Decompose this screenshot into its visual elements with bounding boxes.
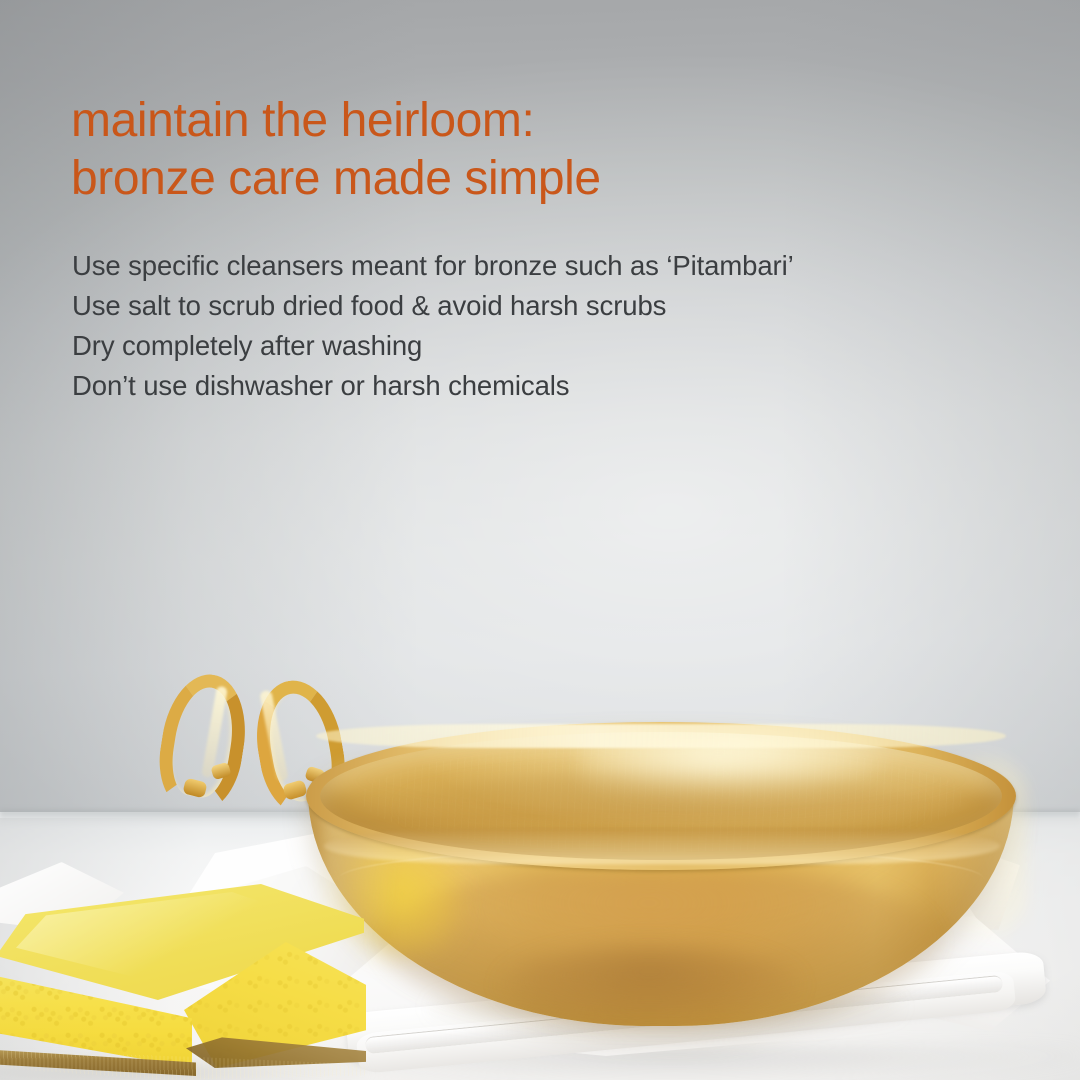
bowl-bottom-shading xyxy=(500,946,800,1026)
page-title: maintain the heirloom: bronze care made … xyxy=(71,92,971,208)
care-tip-4: Don’t use dishwasher or harsh chemicals xyxy=(72,366,1002,406)
page-title-line-2: bronze care made simple xyxy=(71,150,971,208)
yellow-sponge xyxy=(0,884,368,1080)
care-tip-2: Use salt to scrub dried food & avoid har… xyxy=(72,286,1002,326)
bowl-rim-lip-highlight xyxy=(316,724,1006,748)
bowl-rim-front-edge xyxy=(324,828,1000,864)
infographic-canvas: maintain the heirloom: bronze care made … xyxy=(0,0,1080,1080)
brass-kadai-bowl xyxy=(250,660,1080,1020)
care-tip-1: Use specific cleansers meant for bronze … xyxy=(72,246,1002,286)
page-title-line-1: maintain the heirloom: xyxy=(71,94,534,147)
care-tip-3: Dry completely after washing xyxy=(72,326,1002,366)
care-tips-list: Use specific cleansers meant for bronze … xyxy=(72,246,1002,406)
